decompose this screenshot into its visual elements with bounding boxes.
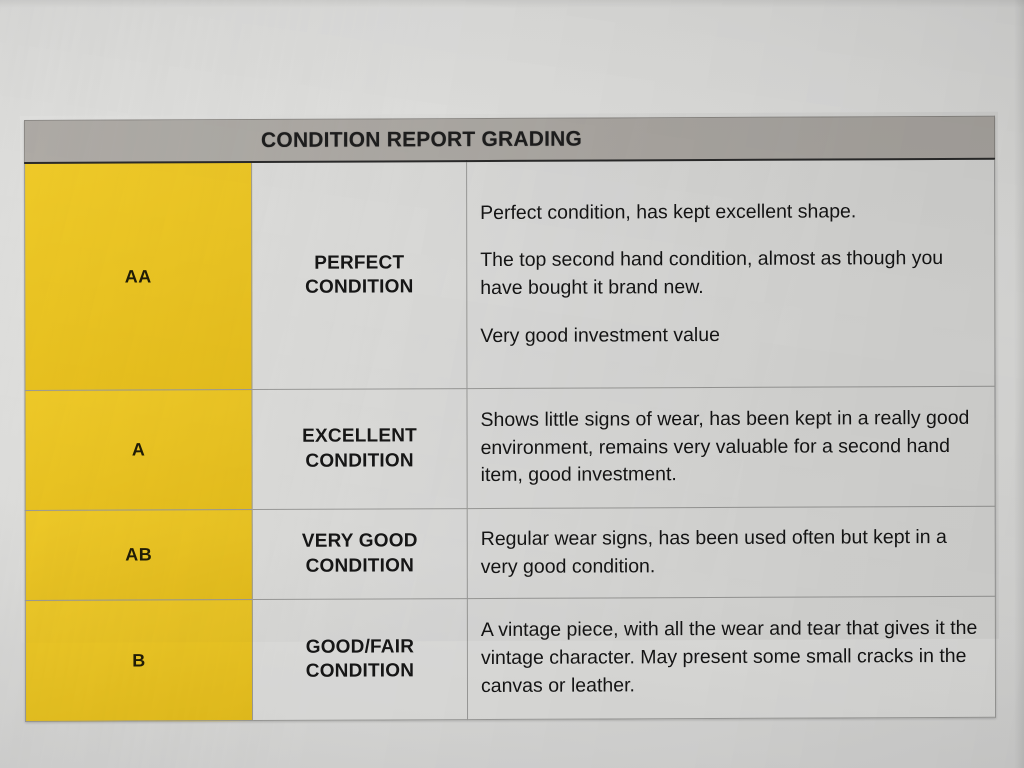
condition-title-line1: EXCELLENT: [302, 425, 417, 447]
condition-title-a: EXCELLENT CONDITION: [252, 389, 467, 510]
description-paragraph: A vintage piece, with all the wear and t…: [481, 615, 981, 700]
description-paragraph: The top second hand condition, almost as…: [480, 245, 980, 303]
table-row: B GOOD/FAIR CONDITION A vintage piece, w…: [25, 596, 995, 721]
condition-title-b: GOOD/FAIR CONDITION: [252, 599, 467, 721]
grade-code-a: A: [25, 390, 252, 511]
condition-title-line2: CONDITION: [306, 555, 414, 576]
table-row: AA PERFECT CONDITION Perfect condition, …: [25, 159, 995, 391]
condition-title-ab: VERY GOOD CONDITION: [252, 509, 467, 600]
grade-code-ab: AB: [25, 510, 252, 601]
description-paragraph: Very good investment value: [480, 321, 980, 351]
condition-description-aa: Perfect condition, has kept excellent sh…: [467, 159, 995, 389]
condition-description-b: A vintage piece, with all the wear and t…: [467, 596, 995, 719]
condition-title-line1: VERY GOOD: [302, 530, 418, 552]
table-header-cell: CONDITION REPORT GRADING: [25, 116, 995, 163]
condition-title-line1: PERFECT: [314, 252, 404, 273]
condition-report-grading-table: CONDITION REPORT GRADING AA PERFECT COND…: [24, 116, 996, 722]
description-paragraph: Shows little signs of wear, has been kep…: [481, 405, 981, 490]
description-paragraph: Perfect condition, has kept excellent sh…: [480, 197, 980, 227]
condition-title-line2: CONDITION: [305, 450, 413, 471]
grade-code-aa: AA: [25, 162, 252, 390]
condition-title-line2: CONDITION: [305, 276, 413, 297]
grade-code-b: B: [25, 600, 252, 722]
description-paragraph: Regular wear signs, has been used often …: [481, 524, 981, 582]
page-title: CONDITION REPORT GRADING: [35, 127, 582, 152]
condition-description-ab: Regular wear signs, has been used often …: [467, 506, 995, 598]
condition-title-line2: CONDITION: [306, 660, 414, 681]
photo-edge-right: [1014, 0, 1024, 768]
condition-title-aa: PERFECT CONDITION: [252, 161, 467, 389]
condition-description-a: Shows little signs of wear, has been kep…: [467, 386, 995, 508]
table-row: A EXCELLENT CONDITION Shows little signs…: [25, 386, 995, 510]
table-body: AA PERFECT CONDITION Perfect condition, …: [25, 159, 996, 722]
photo-edge-top: [0, 0, 1024, 8]
photographed-document: CONDITION REPORT GRADING AA PERFECT COND…: [0, 0, 1024, 768]
table-header-row: CONDITION REPORT GRADING: [25, 116, 995, 163]
condition-report-table-wrapper: CONDITION REPORT GRADING AA PERFECT COND…: [24, 116, 995, 639]
condition-title-line1: GOOD/FAIR: [306, 636, 414, 657]
table-row: AB VERY GOOD CONDITION Regular wear sign…: [25, 506, 995, 600]
